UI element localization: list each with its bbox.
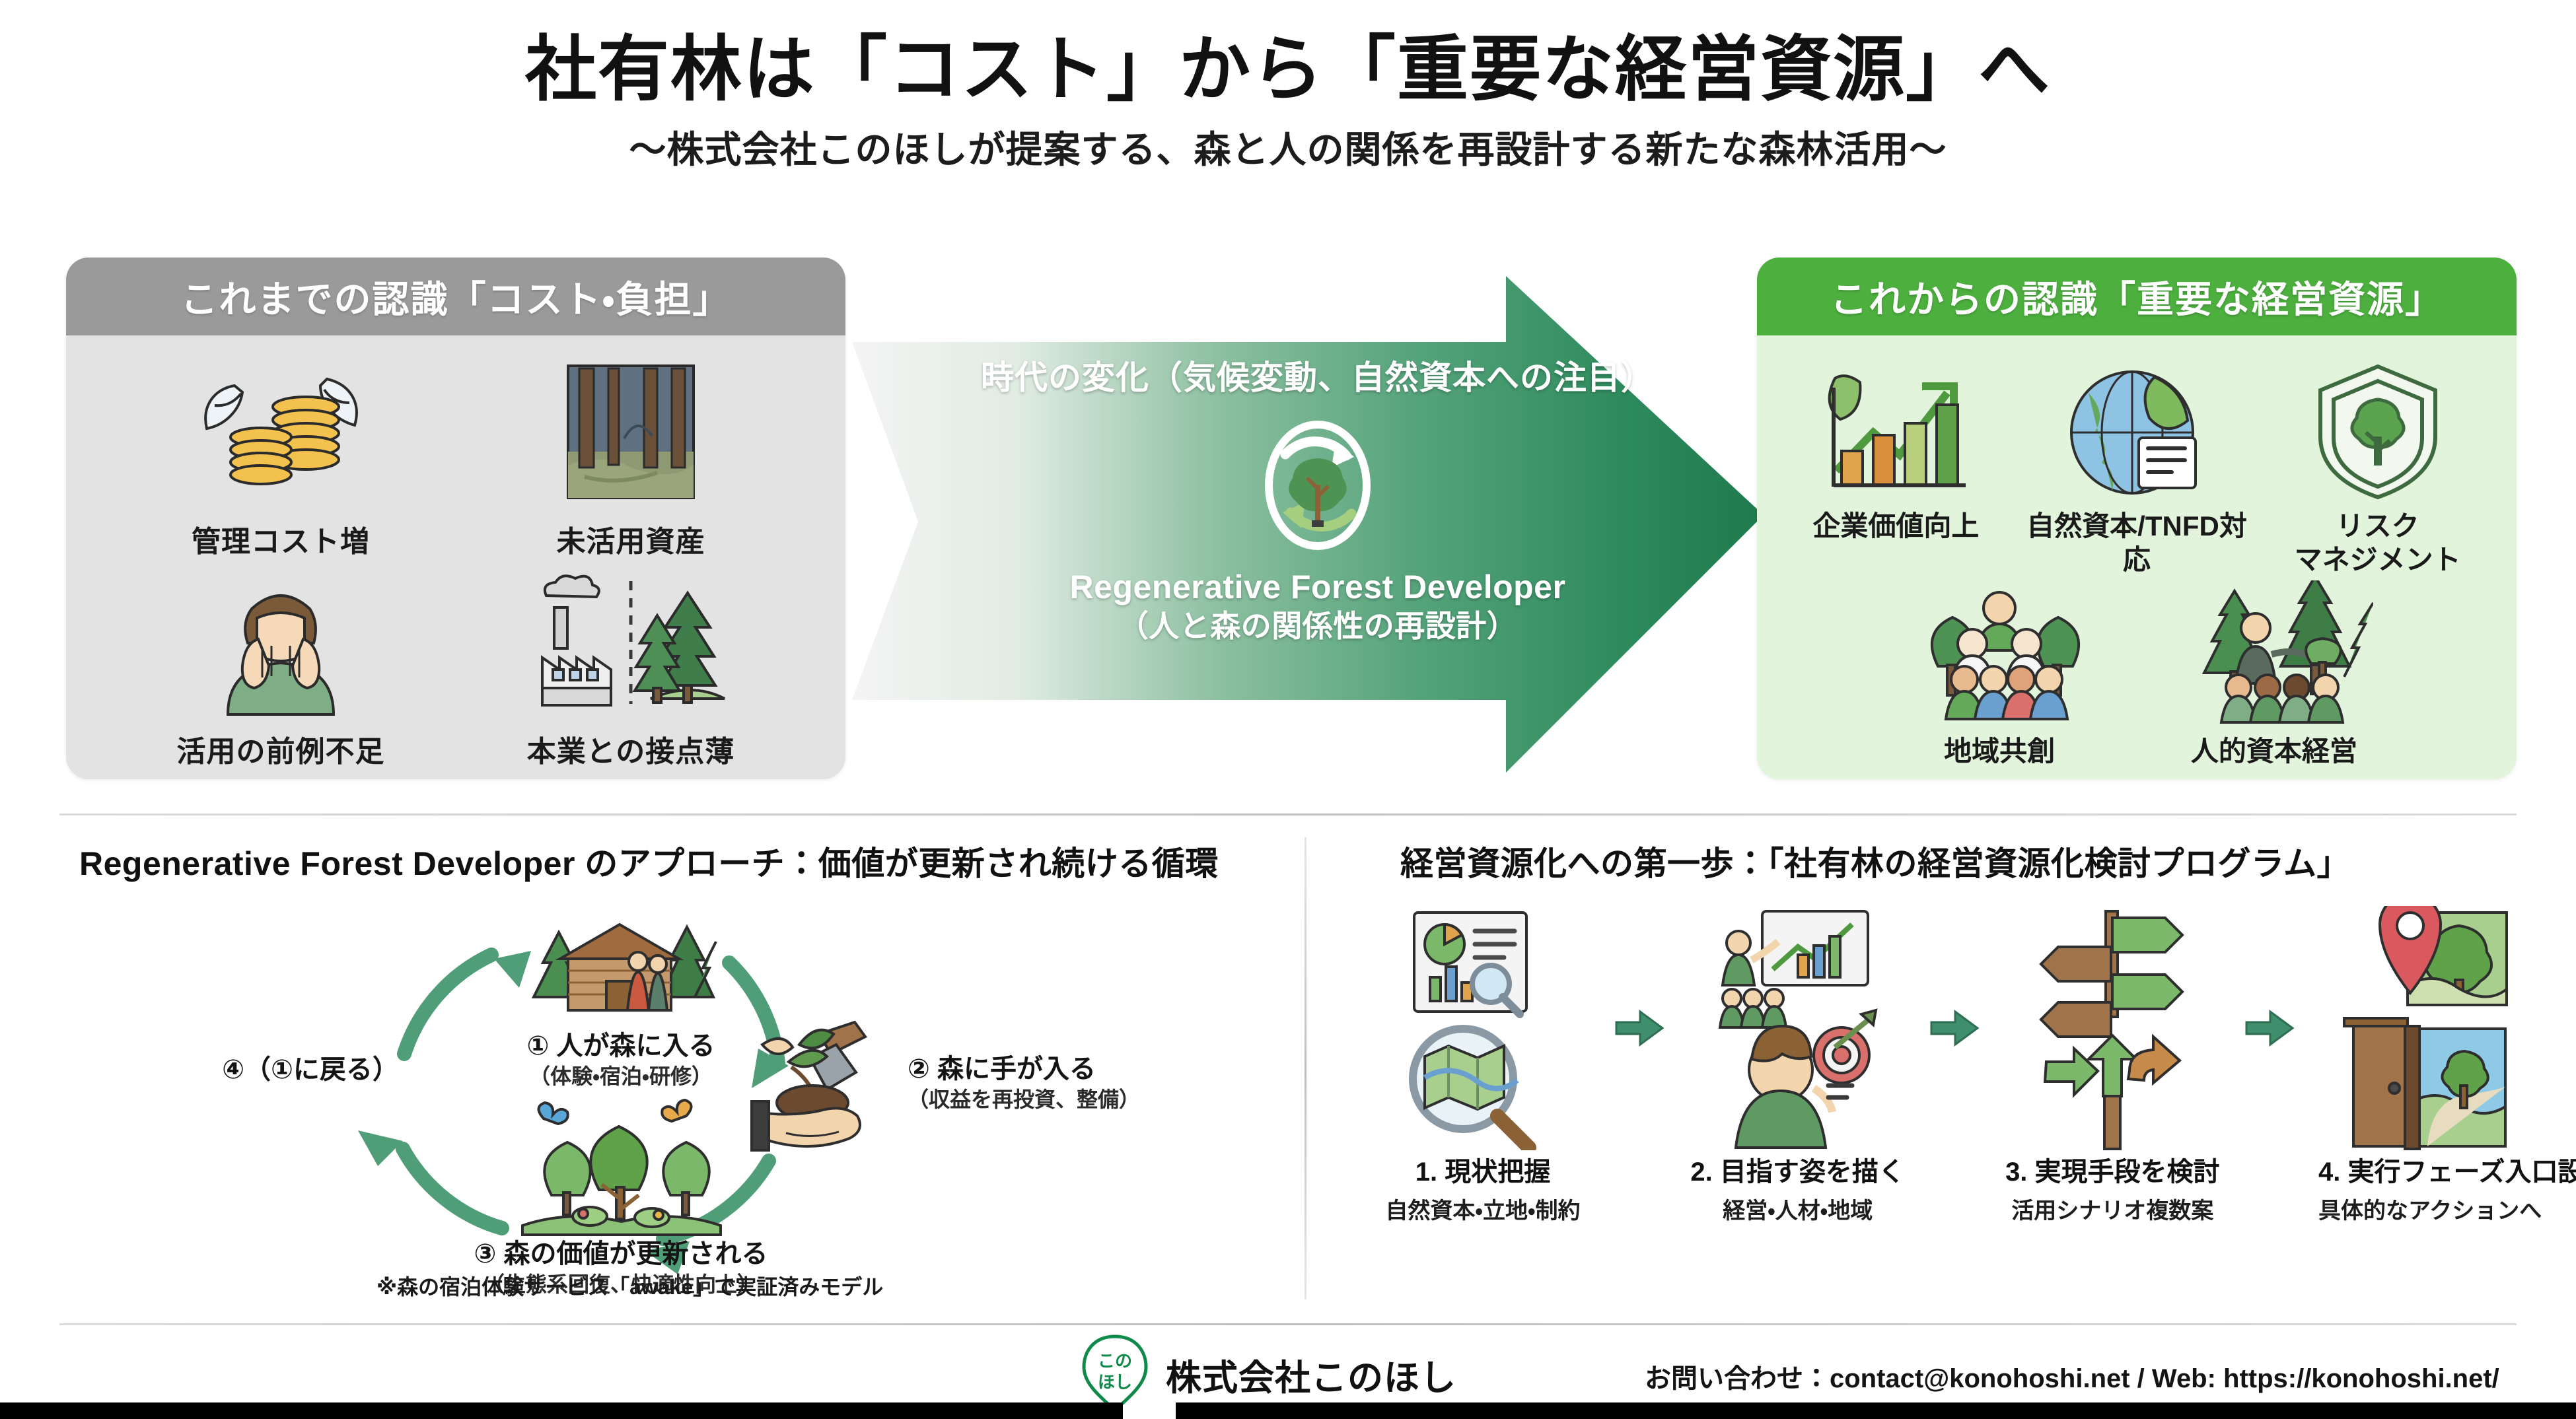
logo-line2: ほし xyxy=(1098,1372,1132,1392)
past-item-no-precedent: 活用の前例不足 xyxy=(106,569,456,770)
cycle-node-label: ④（①に戻る） xyxy=(172,1054,449,1086)
step-sub: 自然資本・立地・制約 xyxy=(1374,1193,1592,1225)
growth-chart-leaf-icon xyxy=(1775,355,2017,504)
cycle-note: ※森の宿泊体験サービス「awake」で実証済みモデル xyxy=(376,1270,883,1301)
step-connector-2 xyxy=(1929,906,1982,1150)
shield-tree-icon xyxy=(2257,355,2498,504)
past-item-low-relevance: 本業との接点薄 xyxy=(456,569,806,770)
letterbox-bar-left xyxy=(0,1402,1123,1419)
future-item-label-line2: マネジメント xyxy=(2257,543,2498,576)
presenter-target-vision-icon xyxy=(1689,906,1907,1150)
future-item-human-capital: 人的資本経営 xyxy=(2137,580,2412,768)
past-item-label: 本業との接点薄 xyxy=(456,728,806,770)
steps-section: 経営資源化への第一歩：「社有林の経営資源化検討プログラム」 xyxy=(1361,837,2550,1326)
cycle-node-2-text: ② 森に手が入る （収益を再投資、整備） xyxy=(908,1053,1140,1113)
past-item-label: 管理コスト増 xyxy=(106,518,456,560)
page-subtitle: 〜株式会社このほしが提案する、森と人の関係を再設計する新たな森林活用〜 xyxy=(0,120,2576,174)
future-row-2: 地域共創 xyxy=(1757,576,2517,768)
step-3: 3. 実現手段を検討 活用シナリオ複数案 xyxy=(2003,906,2221,1225)
step-connector-3 xyxy=(2244,906,2297,1150)
future-item-risk-management: リスク マネジメント xyxy=(2257,355,2498,576)
future-item-label-line1: リスク xyxy=(2257,509,2498,543)
step-sub: 具体的なアクションへ xyxy=(2318,1193,2536,1225)
future-item-corporate-value: 企業価値向上 xyxy=(1775,355,2017,543)
panel-future-heading: これからの認識「重要な経営資源」 xyxy=(1757,258,2517,335)
right-arrow-icon xyxy=(2245,1008,2295,1049)
step-1: 1. 現状把握 自然資本・立地・制約 xyxy=(1374,906,1592,1225)
factory-and-trees-split-icon xyxy=(456,569,806,721)
transition-arrow: 時代の変化（気候変動、自然資本への注目） Regenerative Forest… xyxy=(839,264,1777,786)
panel-future-perception: これからの認識「重要な経営資源」 xyxy=(1757,258,2517,779)
step-label: 2. 目指す姿を描く xyxy=(1689,1150,1907,1189)
cycle-canvas: ① 人が森に入る （体験・宿泊・研修） xyxy=(66,898,1281,1294)
map-pin-open-door-icon xyxy=(2318,906,2536,1150)
cycle-node-4: ④（①に戻る） xyxy=(172,1054,449,1086)
logo-line1: この xyxy=(1098,1351,1132,1371)
steps-section-title: 経営資源化への第一歩：「社有林の経営資源化検討プログラム」 xyxy=(1400,837,2350,885)
future-row-1: 企業価値向上 xyxy=(1757,335,2517,576)
people-forest-training-icon xyxy=(2137,580,2412,729)
step-label: 1. 現状把握 xyxy=(1374,1150,1592,1189)
company-name: 株式会社このほし xyxy=(1166,1348,1456,1401)
step-sub: 経営・人材・地域 xyxy=(1689,1193,1907,1225)
future-item-label: 自然資本/TNFD対応 xyxy=(2017,509,2258,576)
cycle-node-label: ② 森に手が入る xyxy=(908,1053,1140,1085)
panel-past-items: 管理コスト増 xyxy=(66,335,845,779)
step-label: 4. 実行フェーズ入口設計 xyxy=(2318,1150,2536,1189)
divider-middle xyxy=(59,813,2517,815)
step-sub: 活用シナリオ複数案 xyxy=(2003,1193,2221,1225)
footer-contact: お問い合わせ：contact@konohoshi.net / Web: http… xyxy=(1645,1357,2499,1395)
winged-coins-icon xyxy=(106,359,456,511)
past-item-cost: 管理コスト増 xyxy=(106,359,456,560)
dark-forest-photo-icon xyxy=(456,359,806,511)
step-label: 3. 実現手段を検討 xyxy=(2003,1150,2221,1189)
future-item-community: 地域共創 xyxy=(1862,580,2137,768)
globe-leaf-report-icon xyxy=(2017,355,2258,504)
cycle-node-3: ③ 森の価値が更新される （生態系回復、快適性向上） xyxy=(410,1096,832,1298)
steps-row: 1. 現状把握 自然資本・立地・制約 xyxy=(1361,906,2550,1249)
panel-past-heading: これまでの認識「コスト・負担」 xyxy=(66,258,845,335)
cycle-section-title: Regenerative Forest Developer のアプローチ：価値が… xyxy=(79,837,1219,885)
person-head-in-hands-icon xyxy=(106,569,456,721)
letterbox-bar-right xyxy=(1176,1402,2576,1419)
healthy-forest-butterflies-icon xyxy=(410,1096,832,1238)
panel-past-perception: これまでの認識「コスト・負担」 xyxy=(66,258,845,779)
title-block: 社有林は「コスト」から「重要な経営資源」へ 〜株式会社このほしが提案する、森と人… xyxy=(0,30,2576,174)
page-title: 社有林は「コスト」から「重要な経営資源」へ xyxy=(0,30,2576,110)
step-connector-1 xyxy=(1614,906,1666,1150)
arrow-shape xyxy=(839,264,1777,786)
right-arrow-icon xyxy=(1930,1008,1980,1049)
right-arrow-icon xyxy=(1615,1008,1665,1049)
past-item-unused-asset: 未活用資産 xyxy=(456,359,806,560)
community-people-trees-icon xyxy=(1862,580,2137,729)
report-magnifier-map-icon xyxy=(1374,906,1592,1150)
step-2: 2. 目指す姿を描く 経営・人材・地域 xyxy=(1689,906,1907,1225)
future-item-label: 企業価値向上 xyxy=(1775,509,2017,543)
future-item-tnfd: 自然資本/TNFD対応 xyxy=(2017,355,2258,576)
cycle-node-label: ③ 森の価値が更新される xyxy=(410,1238,832,1270)
past-item-label: 未活用資産 xyxy=(456,518,806,560)
cycle-section: Regenerative Forest Developer のアプローチ：価値が… xyxy=(66,837,1281,1326)
signpost-branching-arrows-icon xyxy=(2003,906,2221,1150)
future-item-label: 地域共創 xyxy=(1862,734,2137,768)
step-4: 4. 実行フェーズ入口設計 具体的なアクションへ xyxy=(2318,906,2536,1225)
slide-root: 社有林は「コスト」から「重要な経営資源」へ 〜株式会社このほしが提案する、森と人… xyxy=(0,0,2576,1419)
cycle-node-sub: （収益を再投資、整備） xyxy=(908,1086,1140,1113)
divider-vertical xyxy=(1305,837,1306,1299)
past-item-label: 活用の前例不足 xyxy=(106,728,456,770)
future-item-label: 人的資本経営 xyxy=(2137,734,2412,768)
future-item-label: リスク マネジメント xyxy=(2257,509,2498,576)
panel-future-items: 企業価値向上 xyxy=(1757,335,2517,769)
